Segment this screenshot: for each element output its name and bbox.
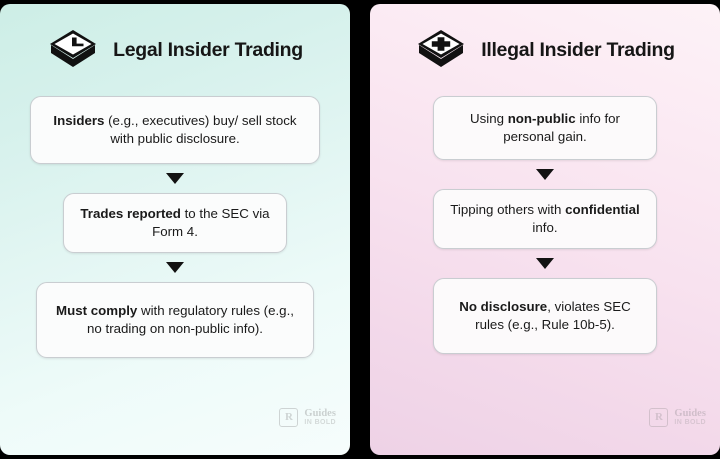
step-text-left-1: Insiders (e.g., executives) buy/ sell st… <box>45 112 305 147</box>
flow-right: Using non-public info for personal gain.… <box>370 96 720 354</box>
watermark-text-right: Guides IN BOLD <box>674 409 706 427</box>
watermark-title-left: Guides <box>304 409 336 420</box>
step-text-right-3: No disclosure, violates SEC rules (e.g.,… <box>448 298 642 333</box>
down-triangle-icon-right-2 <box>536 258 554 269</box>
step-card-right-2: Tipping others with confidential info. <box>433 189 657 249</box>
flow-left: Insiders (e.g., executives) buy/ sell st… <box>0 96 350 358</box>
step-card-left-1: Insiders (e.g., executives) buy/ sell st… <box>30 96 320 164</box>
step-card-left-3: Must comply with regulatory rules (e.g.,… <box>36 282 314 358</box>
panel-illegal-insider-trading: Illegal Insider Trading Using non-public… <box>370 4 720 455</box>
step-bold-right-2: confidential <box>565 202 640 217</box>
step-bold-left-3: Must comply <box>56 303 137 318</box>
step-text-right-1: Using non-public info for personal gain. <box>448 110 642 145</box>
cross-badge-icon <box>415 27 467 73</box>
step-bold-left-2: Trades reported <box>80 206 181 221</box>
down-triangle-icon-right-1 <box>536 169 554 180</box>
step-bold-right-3: No disclosure <box>459 299 547 314</box>
step-bold-left-1: Insiders <box>53 113 104 128</box>
panel-header-left: Legal Insider Trading <box>0 4 350 96</box>
step-card-left-2: Trades reported to the SEC via Form 4. <box>63 193 287 253</box>
step-pre-right-1: Using <box>470 111 508 126</box>
watermark-right: R Guides IN BOLD <box>649 408 706 427</box>
down-triangle-icon-left-1 <box>166 173 184 184</box>
insider-trading-comparison-infographic: Legal Insider Trading Insiders (e.g., ex… <box>0 0 720 459</box>
step-card-right-3: No disclosure, violates SEC rules (e.g.,… <box>433 278 657 354</box>
watermark-left: R Guides IN BOLD <box>279 408 336 427</box>
clock-badge-icon <box>47 27 99 73</box>
watermark-subtitle-right: IN BOLD <box>674 419 706 426</box>
watermark-title-right: Guides <box>674 409 706 420</box>
step-card-right-1: Using non-public info for personal gain. <box>433 96 657 160</box>
step-text-left-2: Trades reported to the SEC via Form 4. <box>78 205 272 240</box>
panel-header-right: Illegal Insider Trading <box>370 4 720 96</box>
step-bold-right-1: non-public <box>508 111 576 126</box>
step-text-right-2: Tipping others with confidential info. <box>448 201 642 236</box>
step-pre-right-2: Tipping others with <box>450 202 565 217</box>
step-rest-right-2: info. <box>532 220 557 235</box>
watermark-logo-mark-right: R <box>649 408 668 427</box>
step-text-left-3: Must comply with regulatory rules (e.g.,… <box>51 302 299 337</box>
watermark-text-left: Guides IN BOLD <box>304 409 336 427</box>
watermark-subtitle-left: IN BOLD <box>304 419 336 426</box>
page-title-right: Illegal Insider Trading <box>481 39 675 62</box>
panel-legal-insider-trading: Legal Insider Trading Insiders (e.g., ex… <box>0 4 350 455</box>
panel-divider <box>350 0 370 459</box>
down-triangle-icon-left-2 <box>166 262 184 273</box>
page-title-left: Legal Insider Trading <box>113 39 303 62</box>
step-rest-left-1: (e.g., executives) buy/ sell stock with … <box>104 113 296 146</box>
watermark-logo-mark: R <box>279 408 298 427</box>
